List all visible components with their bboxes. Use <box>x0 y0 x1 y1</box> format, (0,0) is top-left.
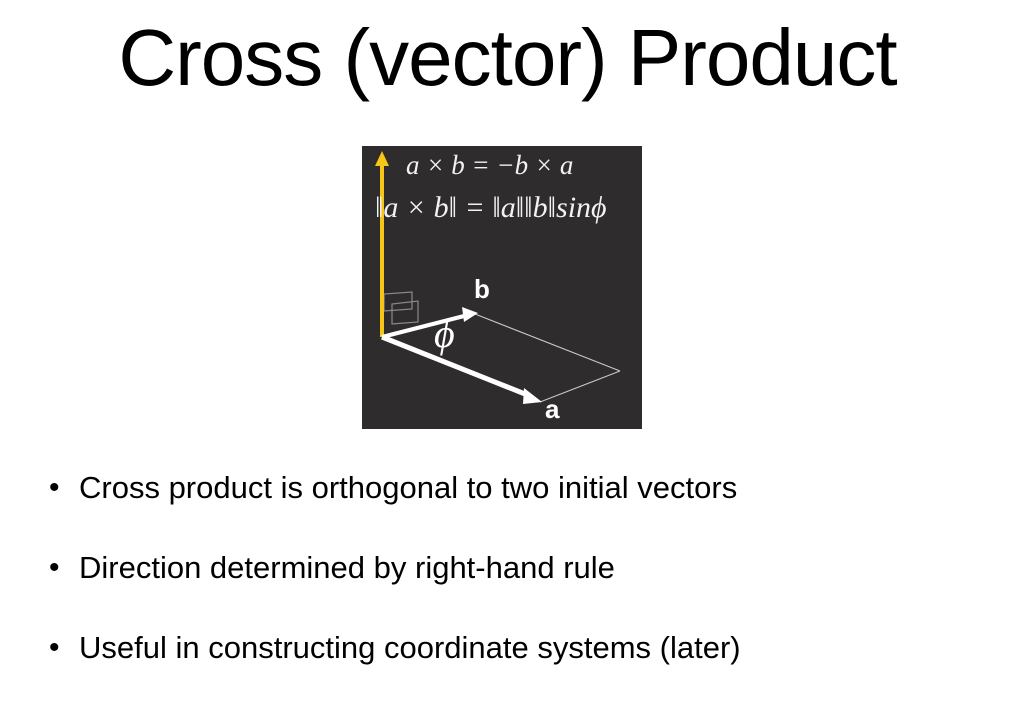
parallelogram-thin-edges <box>475 314 620 402</box>
vector-b-label: b <box>474 276 490 302</box>
right-angle-marker-group <box>384 292 418 324</box>
list-item: • Direction determined by right-hand rul… <box>45 546 975 626</box>
cross-product-vector-svg <box>362 146 642 429</box>
right-angle-marker-inner <box>392 301 418 324</box>
cross-product-vector-arrow <box>375 151 389 337</box>
bullet-text: Cross product is orthogonal to two initi… <box>79 466 737 510</box>
bullet-text: Direction determined by right-hand rule <box>79 546 615 590</box>
list-item: • Cross product is orthogonal to two ini… <box>45 466 975 546</box>
bullet-list: • Cross product is orthogonal to two ini… <box>45 466 975 706</box>
bullet-marker: • <box>45 626 79 670</box>
cross-product-figure: a × b = −b × a ‖a × b‖ = ‖a‖‖b‖sinϕ b a … <box>362 146 642 429</box>
bullet-marker: • <box>45 546 79 590</box>
right-angle-marker-outer <box>384 292 412 311</box>
formula-magnitude: ‖a × b‖ = ‖a‖‖b‖sinϕ <box>375 193 607 223</box>
formula-anticommutative: a × b = −b × a <box>406 152 573 179</box>
page-title: Cross (vector) Product <box>0 18 1015 98</box>
bullet-marker: • <box>45 466 79 510</box>
vector-a-label: a <box>545 396 559 422</box>
list-item: • Useful in constructing coordinate syst… <box>45 626 975 706</box>
bullet-text: Useful in constructing coordinate system… <box>79 626 741 670</box>
parallelogram-edge-top-right <box>475 314 620 371</box>
vector-b-arrow <box>382 307 478 337</box>
vector-a-arrow <box>382 337 542 404</box>
angle-phi-label: ϕ <box>434 314 455 354</box>
